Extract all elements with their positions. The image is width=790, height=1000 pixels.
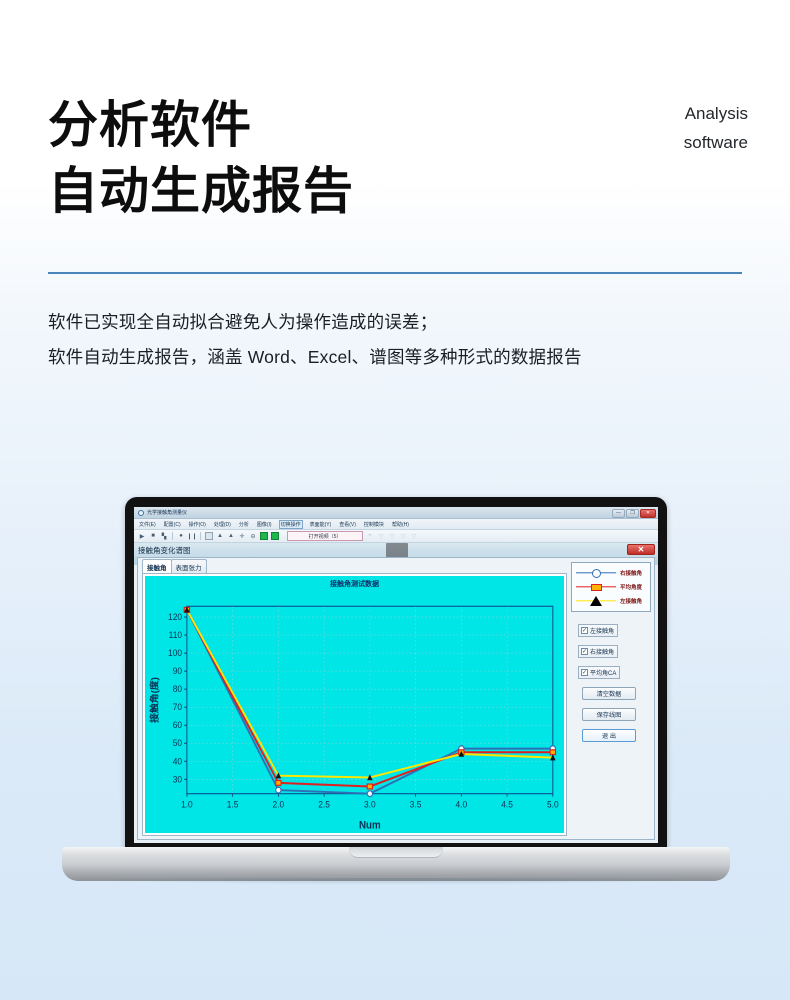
window-controls[interactable]: — ❐ ✕ [612,509,656,518]
filter1-icon: ▽ [377,532,385,540]
checkbox-label: 平均角CA [590,668,616,677]
subwindow-titlebar: 接触角变化谱图 ✕ [134,543,658,557]
close-button[interactable]: ✕ [640,509,656,518]
tab-bar[interactable]: 接触角 表面张力 [142,561,567,573]
play-icon[interactable]: ▶ [138,532,146,540]
drop-up-icon[interactable]: ▲ [216,532,224,540]
menu-item-analysis[interactable]: 分析 [238,521,250,528]
minimize-button[interactable]: — [612,509,625,518]
svg-text:70: 70 [173,702,182,712]
svg-text:40: 40 [173,756,182,766]
divider [48,272,742,274]
checkbox-left-contact-angle[interactable]: ✓ 左接触角 [578,624,618,637]
minus-circle-icon[interactable]: ⊖ [249,532,257,540]
svg-text:30: 30 [173,774,182,784]
square-marker-icon [591,584,602,591]
subwindow-title: 接触角变化谱图 [138,545,191,556]
menu-item-help[interactable]: 帮助(H) [391,521,410,528]
chart-title: 接触角测试数据 [145,579,564,589]
svg-text:1.5: 1.5 [227,799,239,809]
english-subtitle: Analysis software [588,100,748,158]
start-capture-icon[interactable] [260,532,268,540]
menu-item-surface-energy[interactable]: 表面能(Y) [309,521,333,528]
cursor-icon: ⌖ [366,532,374,540]
menu-item-image[interactable]: 图像(I) [256,521,273,528]
drop-down-icon[interactable]: ▲ [227,532,235,540]
checkbox-label: 左接触角 [590,626,614,635]
exit-button[interactable]: 退 出 [582,729,636,742]
svg-text:80: 80 [173,684,182,694]
save-chart-button[interactable]: 保存线图 [582,708,636,721]
legend-line-yellow [574,595,618,607]
checkbox-icon[interactable]: ✓ [581,627,588,634]
menu-item-view[interactable]: 查看(V) [338,521,357,528]
circle-marker-icon [592,569,601,578]
legend-label-left-angle: 左接触角 [620,597,642,605]
svg-text:1.0: 1.0 [181,799,193,809]
crosshair-icon[interactable]: ✛ [238,532,246,540]
page-title-line2: 自动生成报告 [48,158,748,224]
chart-pane: 接触角 表面张力 接触角测试数据 1.01.52.02.53.03.54.04.… [138,558,570,839]
menu-item-switch-operation[interactable]: 切换操作 [279,520,303,529]
hero-description-line2: 软件自动生成报告，涵盖 Word、Excel、谱图等多种形式的数据报告 [48,340,748,375]
svg-text:100: 100 [168,648,182,658]
svg-text:50: 50 [173,738,182,748]
app-title: 光学接触角测量仪 [147,509,187,516]
menu-item-process[interactable]: 处理(D) [213,521,232,528]
legend-item-average-angle: 平均角度 [574,581,648,594]
svg-text:4.5: 4.5 [501,799,513,809]
stop-icon[interactable]: ■ [149,532,157,540]
hero-description: 软件已实现全自动拟合避免人为操作造成的误差； 软件自动生成报告，涵盖 Word、… [48,305,748,375]
subwindow-body: 接触角 表面张力 接触角测试数据 1.01.52.02.53.03.54.04.… [137,557,655,840]
svg-text:5.0: 5.0 [547,799,559,809]
grid-icon[interactable] [205,532,213,540]
svg-text:90: 90 [173,666,182,676]
controls-stack: ✓ 左接触角 ✓ 右接触角 ✓ 平均角CA [572,624,650,742]
checkbox-right-contact-angle[interactable]: ✓ 右接触角 [578,645,618,658]
svg-text:3.0: 3.0 [364,799,376,809]
svg-text:110: 110 [169,630,182,640]
menu-bar[interactable]: 文件(E) 配置(C) 操作(O) 处理(D) 分析 图像(I) 切换操作 表面… [134,519,658,530]
record-icon[interactable]: ● [177,532,185,540]
contact-angle-chart: 接触角测试数据 1.01.52.02.53.03.54.04.55.030405… [145,576,564,833]
laptop-screen: 光学接触角测量仪 — ❐ ✕ 文件(E) 配置(C) 操作(O) 处理(D) 分… [134,507,658,843]
checkbox-icon[interactable]: ✓ [581,669,588,676]
app-titlebar: 光学接触角测量仪 — ❐ ✕ [134,507,658,519]
svg-text:Num: Num [359,820,381,831]
svg-text:2.0: 2.0 [273,799,285,809]
english-subtitle-line2: software [588,129,748,158]
clear-data-button[interactable]: 清空数据 [582,687,636,700]
triangle-marker-icon [590,596,602,606]
chart-frame: 接触角测试数据 1.01.52.02.53.03.54.04.55.030405… [142,573,567,836]
hero-description-line1: 软件已实现全自动拟合避免人为操作造成的误差； [48,305,748,340]
chart-controls-pane: 右接触角 平均角度 [570,558,654,839]
hero-section: 分析软件 自动生成报告 Analysis software [48,92,748,224]
toolbar-separator [172,532,173,540]
legend-label-average-angle: 平均角度 [620,583,642,591]
filter2-icon: ▽ [388,532,396,540]
capture-frame-icon[interactable] [271,532,279,540]
menu-item-file[interactable]: 文件(E) [138,521,157,528]
legend-item-left-angle: 左接触角 [574,595,648,608]
laptop-shadow [64,878,728,885]
maximize-button[interactable]: ❐ [626,509,639,518]
menu-item-operate[interactable]: 操作(O) [188,521,207,528]
checkbox-average-ca[interactable]: ✓ 平均角CA [578,666,620,679]
checkbox-icon[interactable]: ✓ [581,648,588,655]
subwindow-close-icon[interactable]: ✕ [627,544,655,555]
toolbar-separator [200,532,201,540]
app-window: 光学接触角测量仪 — ❐ ✕ 文件(E) 配置(C) 操作(O) 处理(D) 分… [134,507,658,843]
chart-svg: 1.01.52.02.53.03.54.04.55.03040506070809… [145,576,564,833]
english-subtitle-line1: Analysis [588,100,748,129]
legend-line-blue [574,567,618,579]
tab-contact-angle[interactable]: 接触角 [142,559,172,573]
menu-item-config[interactable]: 配置(C) [163,521,182,528]
chart-legend: 右接触角 平均角度 [571,562,651,612]
filter3-icon: ▽ [399,532,407,540]
legend-item-right-angle: 右接触角 [574,567,648,580]
legend-line-red [574,581,618,593]
svg-text:接触角(度): 接触角(度) [149,677,161,723]
open-video-field[interactable]: 打开视频（5） [287,531,363,541]
laptop-mockup: 光学接触角测量仪 — ❐ ✕ 文件(E) 配置(C) 操作(O) 处理(D) 分… [62,497,730,907]
contact-angle-chart-window: 接触角变化谱图 ✕ 接触角 表面张力 接触角测试数据 [134,543,658,843]
svg-text:120: 120 [168,612,182,622]
app-logo-icon [138,510,144,516]
toolbar[interactable]: ▶ ■ ▚ ● ❙❙ ▲ ▲ ✛ ⊖ 打开视频（5） ⌖ ▽ [134,530,658,543]
svg-text:4.0: 4.0 [456,799,468,809]
svg-text:2.5: 2.5 [318,799,330,809]
legend-label-right-angle: 右接触角 [620,569,642,577]
filter4-icon: ▽ [410,532,418,540]
svg-text:60: 60 [173,720,182,730]
svg-text:3.5: 3.5 [410,799,422,809]
pause-icon[interactable]: ❙❙ [188,532,196,540]
menu-item-control-module[interactable]: 控制模块 [363,521,385,528]
checkbox-label: 右接触角 [590,647,614,656]
tab-surface-tension[interactable]: 表面张力 [171,559,207,573]
laptop-base [62,847,730,881]
camera-icon[interactable]: ▚ [160,532,168,540]
laptop-lid: 光学接触角测量仪 — ❐ ✕ 文件(E) 配置(C) 操作(O) 处理(D) 分… [125,497,667,855]
